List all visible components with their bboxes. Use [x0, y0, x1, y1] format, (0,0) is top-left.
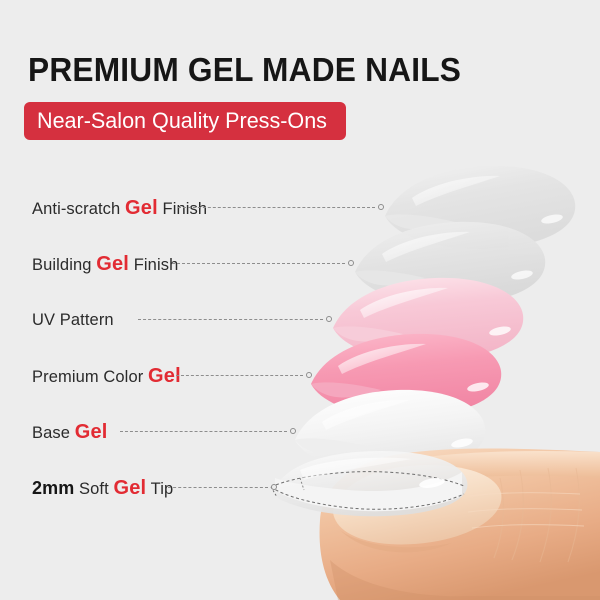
layer-label-uv-pattern: UV Pattern: [32, 311, 114, 330]
leader-endpoint-anti-scratch-gel-finish: [378, 204, 384, 210]
leader-endpoint-building-gel-finish: [348, 260, 354, 266]
layer-shape-base-gel: [295, 390, 485, 473]
layer-shape-soft-gel-tip: [271, 451, 467, 516]
layer-callout-premium-color-gel: Premium Color Gel: [32, 364, 181, 388]
subtitle-badge: Near-Salon Quality Press-Ons: [24, 102, 346, 140]
layer-callout-building-gel-finish: Building Gel Finish: [32, 252, 178, 276]
layer-shape-anti-scratch: [385, 166, 575, 249]
leader-endpoint-2mm-soft-gel-tip: [271, 484, 277, 490]
leader-endpoint-uv-pattern: [326, 316, 332, 322]
leader-line-anti-scratch-gel-finish: [178, 207, 375, 209]
leader-line-premium-color-gel: [176, 375, 303, 377]
page-title: PREMIUM GEL MADE NAILS: [28, 50, 461, 90]
fingertip-illustration: [320, 449, 600, 600]
layer-label-2mm-soft-gel-tip: 2mm Soft Gel Tip: [32, 477, 173, 500]
nail-layers-illustration: [0, 0, 600, 600]
leader-line-building-gel-finish: [172, 263, 345, 265]
layer-shape-uv-pattern: [333, 278, 523, 361]
layer-callout-uv-pattern: UV Pattern: [32, 308, 114, 332]
layer-shape-premium-color-gel: [311, 334, 501, 417]
leader-line-uv-pattern: [138, 319, 323, 321]
infographic-canvas: PREMIUM GEL MADE NAILS Near-Salon Qualit…: [0, 0, 600, 600]
subtitle-badge-text: Near-Salon Quality Press-Ons: [37, 110, 327, 132]
layer-label-building-gel-finish: Building Gel Finish: [32, 253, 178, 276]
layer-label-premium-color-gel: Premium Color Gel: [32, 365, 181, 388]
leader-endpoint-premium-color-gel: [306, 372, 312, 378]
leader-line-base-gel: [120, 431, 287, 433]
leader-line-2mm-soft-gel-tip: [168, 487, 268, 489]
layer-label-base-gel: Base Gel: [32, 421, 108, 444]
layer-shape-building-gel: [355, 222, 545, 305]
leader-endpoint-base-gel: [290, 428, 296, 434]
layer-callout-2mm-soft-gel-tip: 2mm Soft Gel Tip: [32, 476, 173, 500]
layer-callout-base-gel: Base Gel: [32, 420, 108, 444]
